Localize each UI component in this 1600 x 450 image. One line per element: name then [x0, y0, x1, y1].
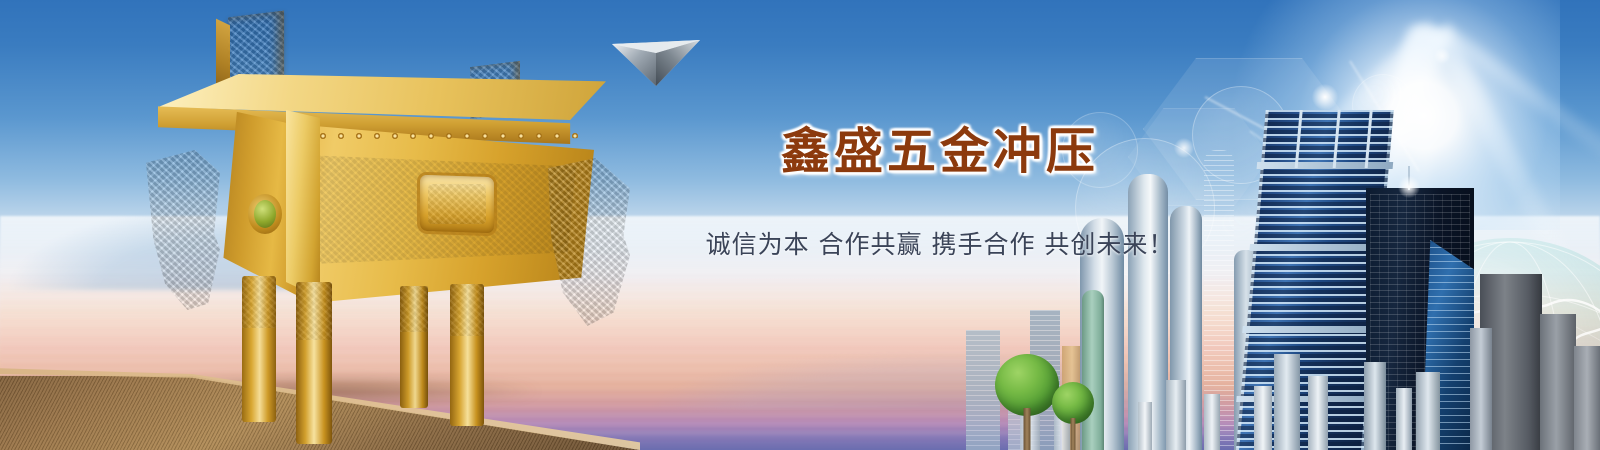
ding-leg-relief: [450, 284, 484, 336]
tree-trunk: [1071, 418, 1076, 450]
tree-trunk: [1024, 408, 1031, 450]
banner-subtitle: 诚信为本 合作共赢 携手合作 共创未来！: [700, 225, 1180, 261]
building: [1364, 362, 1386, 450]
metallic-triangle-icon: [612, 34, 700, 86]
building: [1274, 354, 1300, 450]
tree-large: [995, 354, 1059, 450]
building: [1308, 376, 1328, 450]
ding-leg-relief: [242, 276, 276, 328]
building: [1254, 386, 1272, 450]
ding-leg-relief: [296, 282, 332, 340]
building: [1204, 394, 1220, 450]
ding-corner-flange: [286, 106, 320, 306]
ding-leg-relief: [400, 286, 428, 332]
building: [1166, 380, 1186, 450]
building: [1574, 346, 1600, 450]
banner-text-block: 鑫盛五金冲压 诚信为本 合作共赢 携手合作 共创未来！: [700, 125, 1180, 261]
building: [1416, 372, 1440, 450]
building: [1396, 388, 1412, 450]
building: [1470, 328, 1492, 450]
ding-jade-inlay: [254, 200, 276, 228]
promo-banner: 鑫盛五金冲压 诚信为本 合作共赢 携手合作 共创未来！: [0, 0, 1600, 450]
tree-crown: [995, 354, 1059, 416]
building: [1138, 402, 1152, 450]
ding-cartouche-relief: [428, 184, 486, 224]
ding-wing-left: [146, 150, 220, 310]
page-title: 鑫盛五金冲压: [700, 125, 1180, 179]
ding-wing-right: [548, 158, 630, 326]
tree-small: [1052, 382, 1094, 450]
building: [1540, 314, 1576, 450]
golden-ding-vessel: [150, 8, 620, 438]
